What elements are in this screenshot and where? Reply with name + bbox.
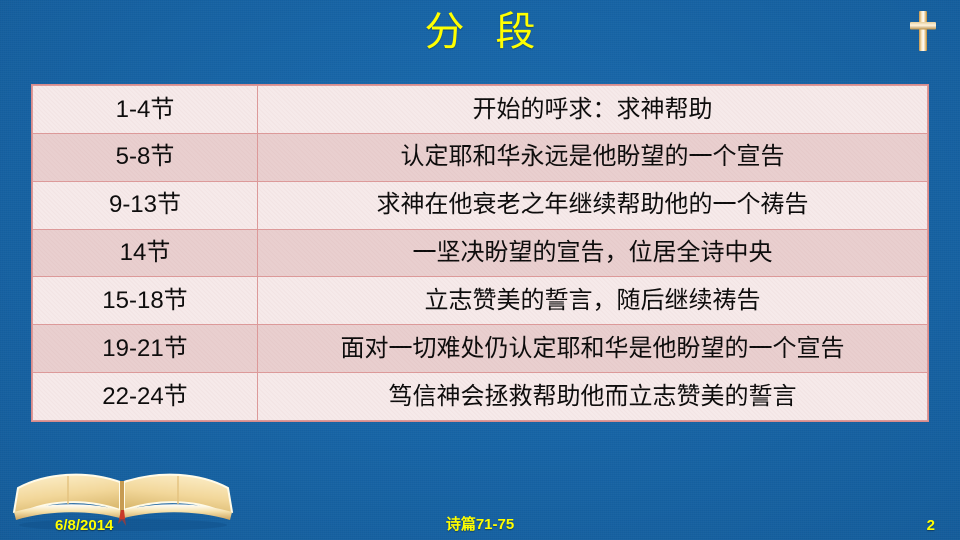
row-reference: 5-8节	[33, 133, 258, 181]
table-row: 9-13节 求神在他衰老之年继续帮助他的一个祷告	[33, 181, 928, 229]
row-reference: 15-18节	[33, 277, 258, 325]
row-description: 一坚决盼望的宣告，位居全诗中央	[258, 229, 928, 277]
row-description: 立志赞美的誓言，随后继续祷告	[258, 277, 928, 325]
row-reference: 14节	[33, 229, 258, 277]
slide: 分 段	[0, 0, 960, 540]
cross-icon	[908, 9, 938, 53]
row-description: 面对一切难处仍认定耶和华是他盼望的一个宣告	[258, 325, 928, 373]
table-row: 15-18节 立志赞美的誓言，随后继续祷告	[33, 277, 928, 325]
row-reference: 1-4节	[33, 86, 258, 134]
table-body: 1-4节 开始的呼求：求神帮助 5-8节 认定耶和华永远是他盼望的一个宣告 9-…	[33, 86, 928, 421]
page-title: 分 段	[0, 6, 960, 58]
row-reference: 19-21节	[33, 325, 258, 373]
row-description: 笃信神会拯救帮助他而立志赞美的誓言	[258, 373, 928, 421]
segments-table: 1-4节 开始的呼求：求神帮助 5-8节 认定耶和华永远是他盼望的一个宣告 9-…	[32, 85, 928, 421]
row-description: 求神在他衰老之年继续帮助他的一个祷告	[258, 181, 928, 229]
footer-title: 诗篇71-75	[0, 513, 960, 534]
row-reference: 9-13节	[33, 181, 258, 229]
table-row: 1-4节 开始的呼求：求神帮助	[33, 86, 928, 134]
row-description: 开始的呼求：求神帮助	[258, 86, 928, 134]
footer-page-number: 2	[927, 517, 935, 534]
table-row: 14节 一坚决盼望的宣告，位居全诗中央	[33, 229, 928, 277]
row-description: 认定耶和华永远是他盼望的一个宣告	[258, 133, 928, 181]
table-row: 5-8节 认定耶和华永远是他盼望的一个宣告	[33, 133, 928, 181]
row-reference: 22-24节	[33, 373, 258, 421]
table-row: 22-24节 笃信神会拯救帮助他而立志赞美的誓言	[33, 373, 928, 421]
table-row: 19-21节 面对一切难处仍认定耶和华是他盼望的一个宣告	[33, 325, 928, 373]
